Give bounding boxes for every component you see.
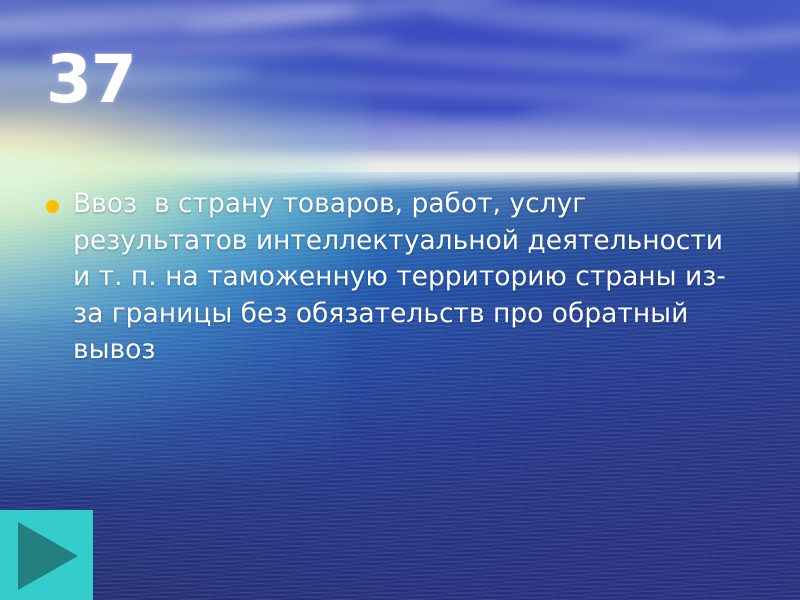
cloud-wisp-icon — [429, 0, 730, 44]
bullet-dot-icon — [46, 200, 59, 213]
slide-canvas: 37 Ввоз в страну товаров, работ, услуг р… — [0, 0, 800, 600]
cloud-wisp-icon — [520, 94, 800, 120]
slide-body-text: Ввоз в страну товаров, работ, услуг резу… — [73, 186, 746, 369]
cloud-wisp-icon — [140, 124, 700, 136]
cloud-wisp-icon — [330, 41, 750, 81]
bullet-list-item: Ввоз в страну товаров, работ, услуг резу… — [46, 186, 746, 369]
cloud-wisp-icon — [620, 19, 800, 60]
play-button[interactable] — [0, 510, 93, 600]
cloud-wisp-icon — [180, 0, 520, 40]
play-triangle-icon — [18, 522, 78, 590]
cloud-wisp-icon — [0, 0, 360, 45]
horizon-haze — [0, 150, 800, 190]
slide-number: 37 — [46, 47, 136, 113]
cloud-wisp-icon — [250, 74, 730, 107]
